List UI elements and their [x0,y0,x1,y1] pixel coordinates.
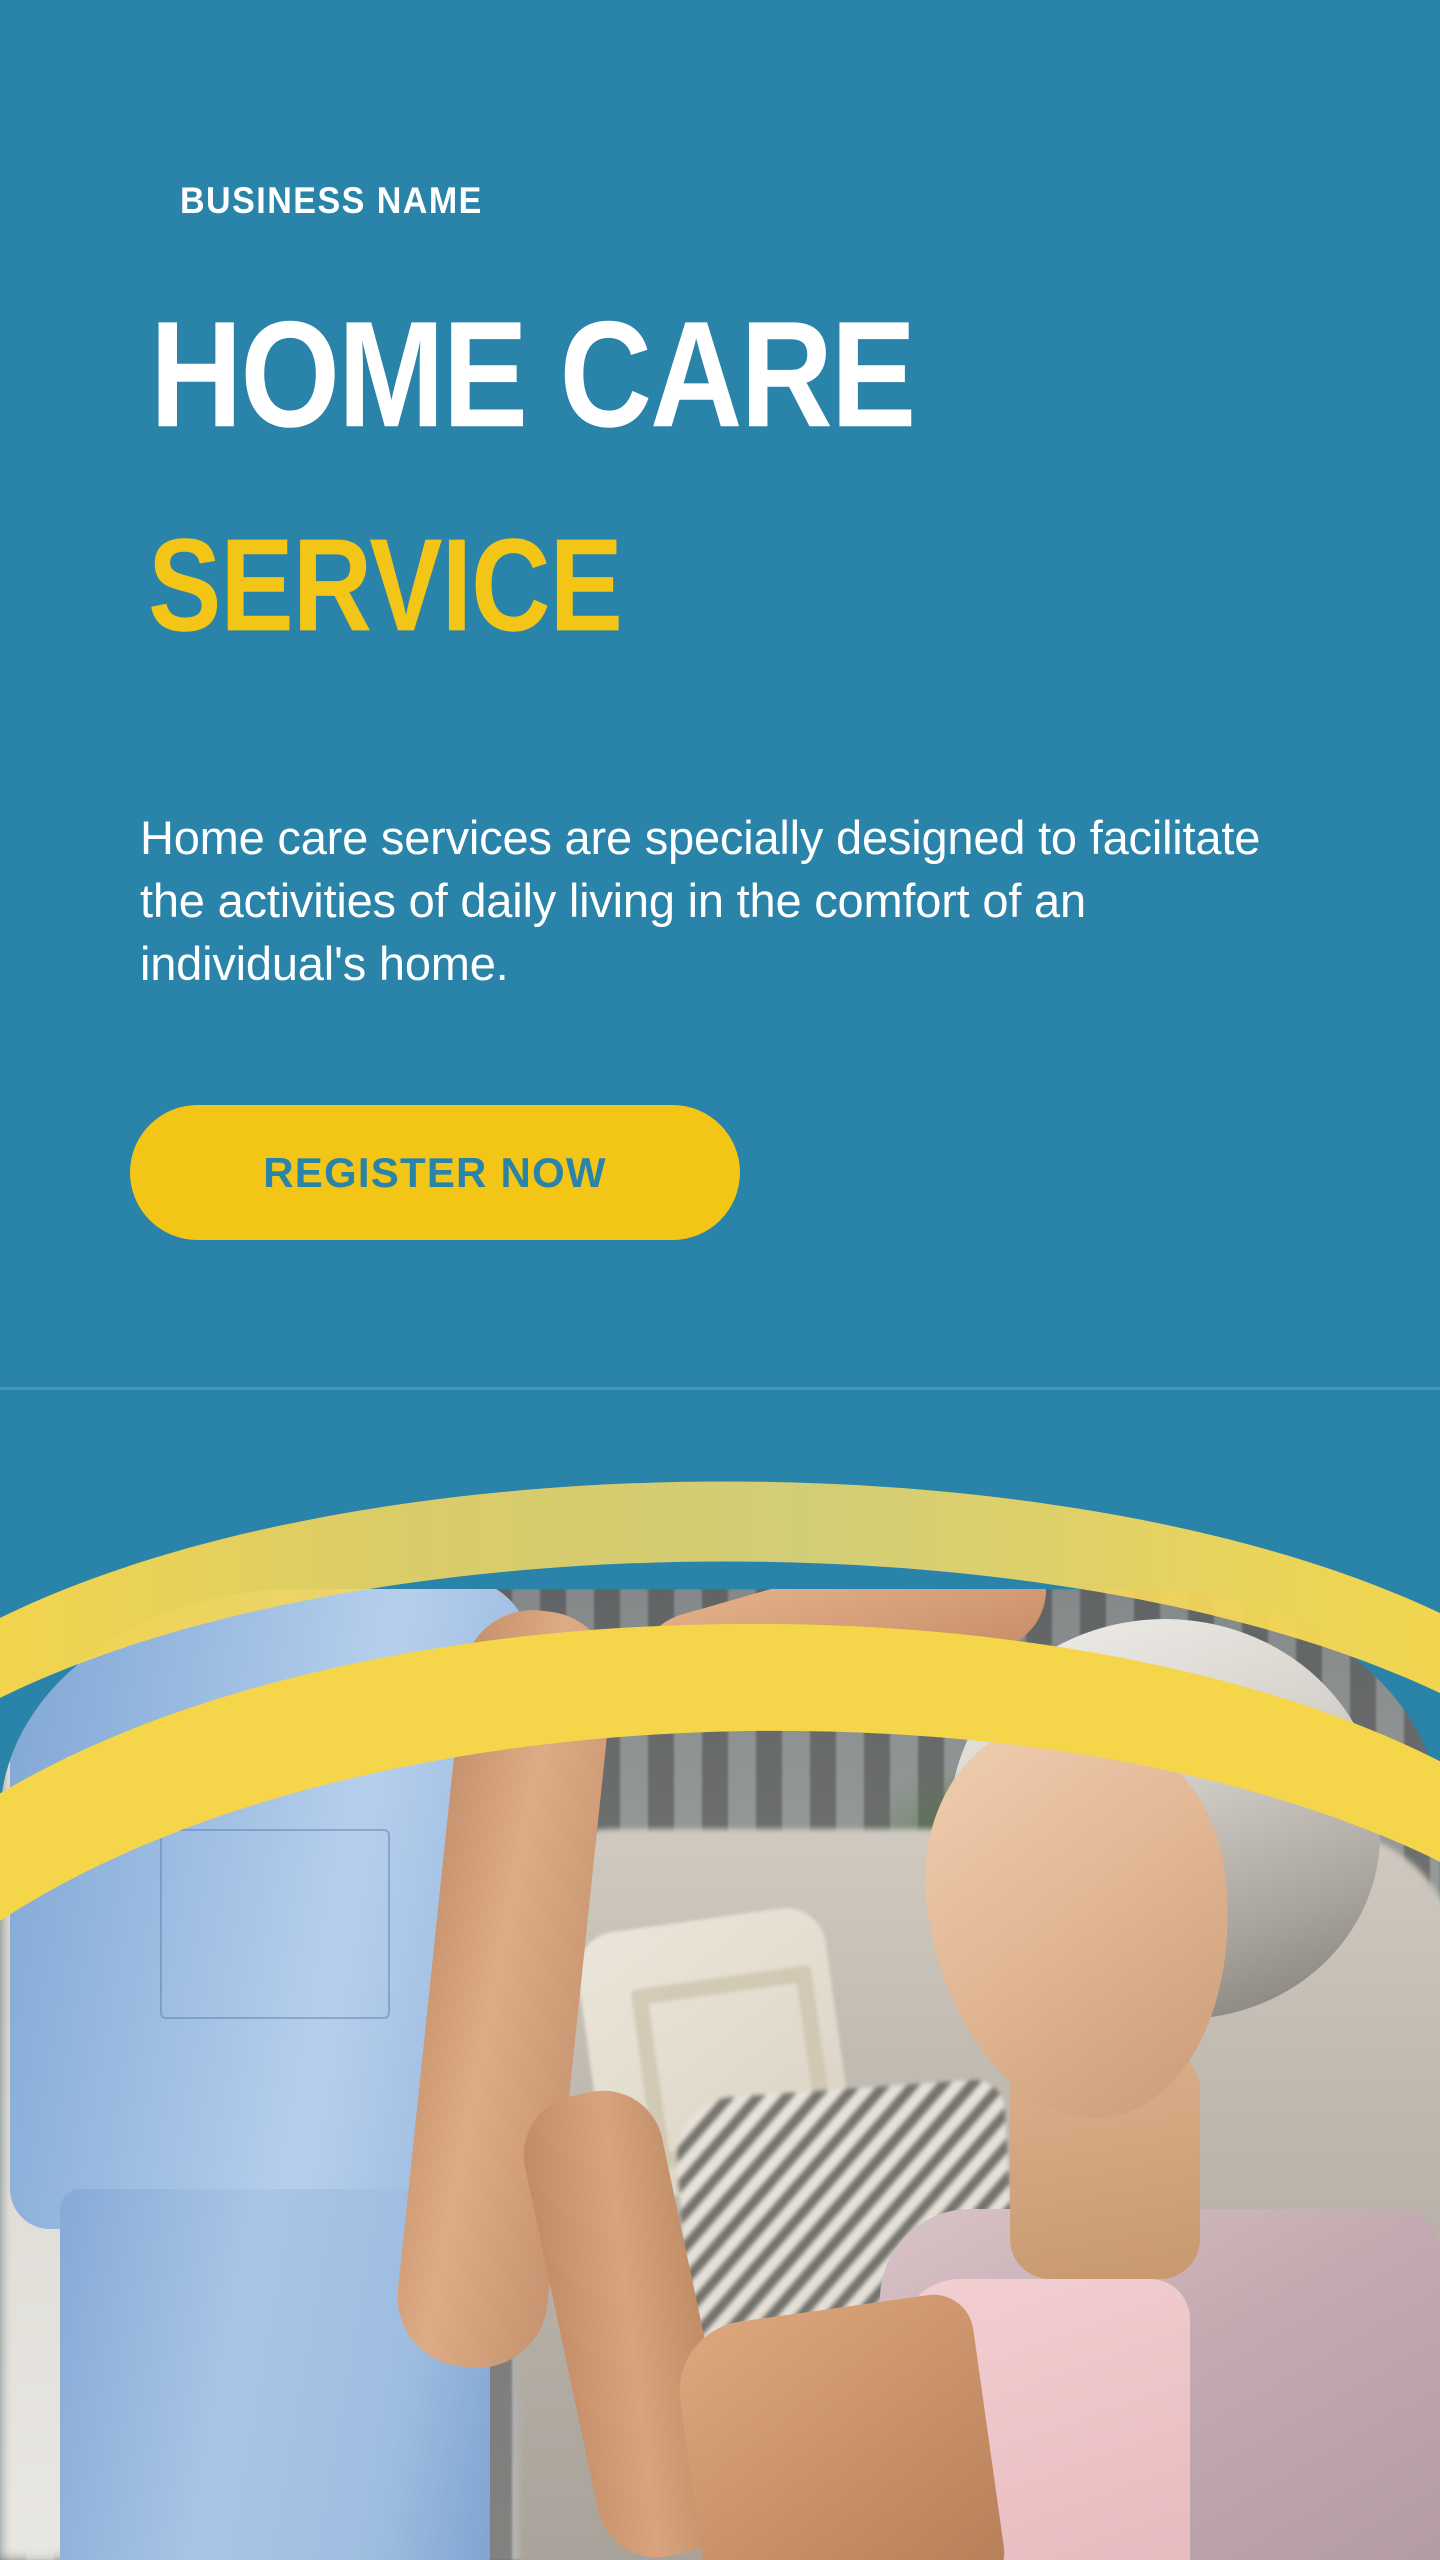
body-paragraph: Home care services are specially designe… [140,807,1300,996]
hero-panel: BUSINESS NAME HOME CARE SERVICE Home car… [0,0,1440,1389]
business-name: BUSINESS NAME [180,180,483,222]
section-divider [0,1387,1440,1390]
headline-secondary: SERVICE [148,520,622,652]
register-now-button[interactable]: REGISTER NOW [130,1105,740,1240]
photo-held-hands [671,2290,1010,2560]
photo-nurse-pocket [160,1829,390,2019]
poster-canvas: Nurse in light blue scrubs holding the h… [0,0,1440,2560]
photo-region: Nurse in light blue scrubs holding the h… [0,1389,1440,2560]
headline-primary: HOME CARE [150,300,914,451]
care-photo: Nurse in light blue scrubs holding the h… [0,1589,1440,2560]
photo-nurse-stripe [65,1737,446,1779]
